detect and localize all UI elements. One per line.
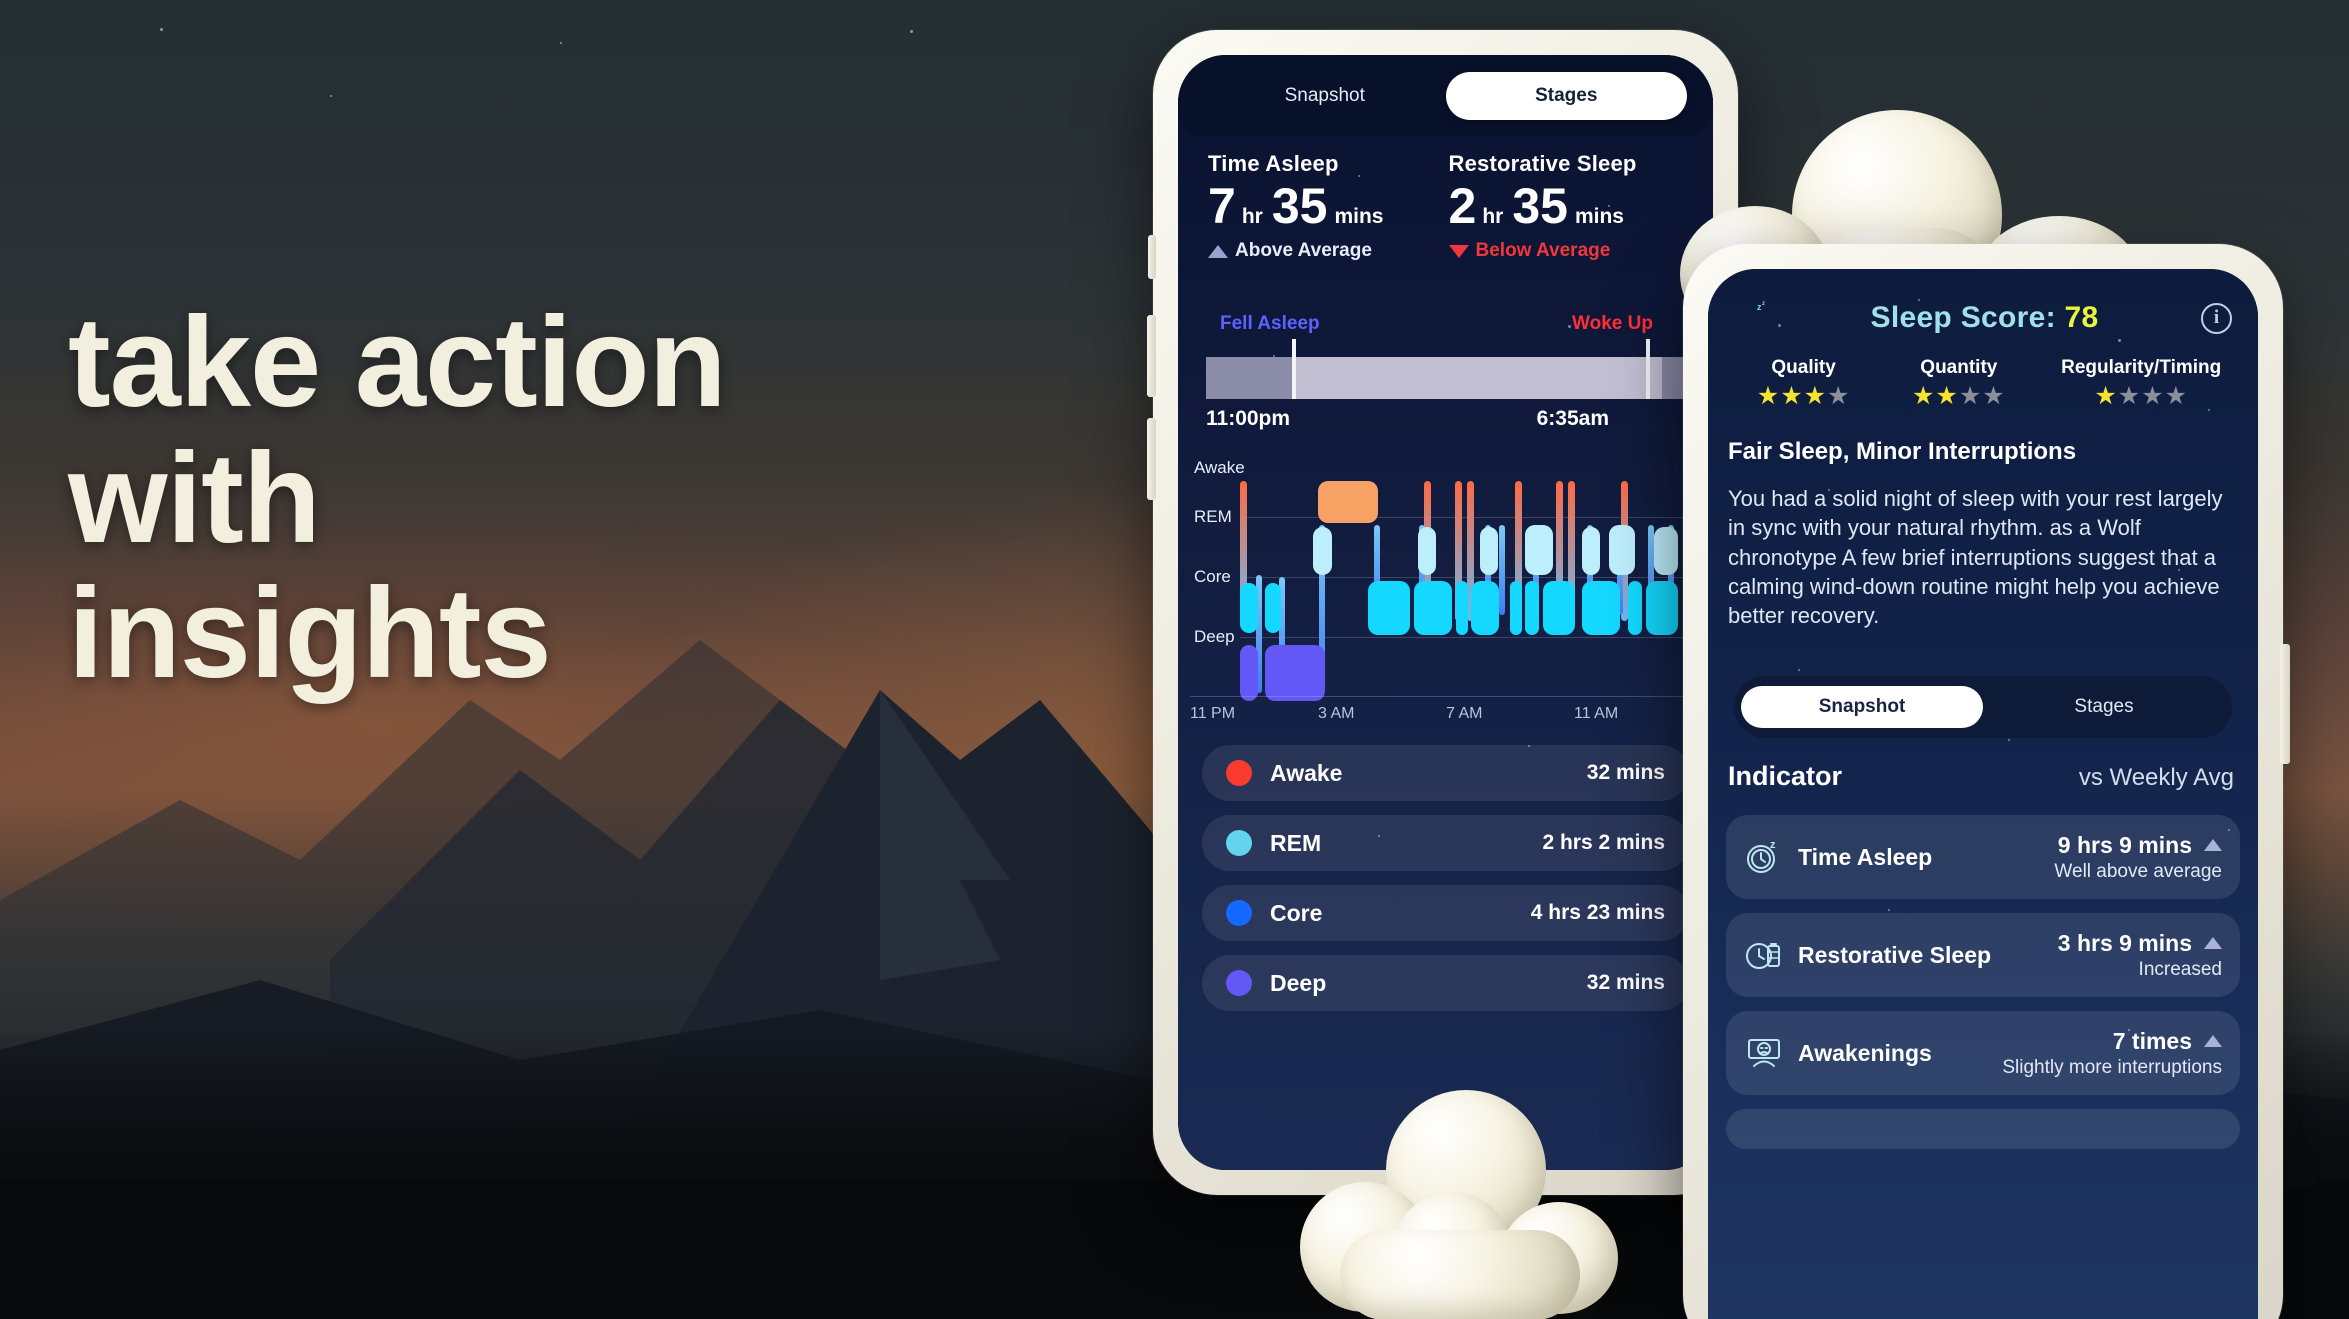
stage-segment-core xyxy=(1525,581,1539,635)
stage-segment-rem xyxy=(1418,527,1436,575)
awake-face-icon xyxy=(1744,1033,1784,1073)
phone2-tab-bar[interactable]: Snapshot Stages xyxy=(1734,676,2232,738)
arrow-up-icon xyxy=(2204,1035,2222,1047)
tab-stages[interactable]: Stages xyxy=(1983,686,2225,728)
timeline-asleep-range xyxy=(1292,357,1662,399)
metric-label: Time Asleep xyxy=(1208,151,1449,177)
metric-value: 2 hr 35 mins xyxy=(1449,181,1690,231)
stage-segment-core xyxy=(1471,581,1499,635)
stage-segment-rem xyxy=(1609,525,1635,575)
moon-zzz-icon: z z xyxy=(1734,299,1768,337)
stage-segment-deep xyxy=(1240,645,1258,701)
tab-snapshot[interactable]: Snapshot xyxy=(1741,686,1983,728)
rating-stars: ★★★★ xyxy=(1726,384,1881,409)
rating-quantity: Quantity ★★★★ xyxy=(1881,357,2036,409)
timeline-bar xyxy=(1206,357,1713,399)
summary-body: You had a solid night of sleep with your… xyxy=(1728,484,2236,630)
metric-hours-unit: hr xyxy=(1482,205,1503,229)
timeline-times: 11:00pm 6:35am xyxy=(1206,407,1689,431)
indicator-value: 7 times xyxy=(2113,1028,2192,1055)
cloud-puff xyxy=(1340,1230,1580,1319)
rating-regularity-timing: Regularity/Timing ★★★★ xyxy=(2036,357,2246,409)
metric-time-asleep: Time Asleep 7 hr 35 mins Above Average xyxy=(1208,151,1449,262)
indicator-subtext: Increased xyxy=(2058,959,2222,981)
stage-segment-core xyxy=(1646,581,1678,635)
xtick-11pm: 11 PM xyxy=(1190,705,1235,723)
ylabel-rem: REM xyxy=(1194,507,1232,527)
metric-comparison: Below Average xyxy=(1449,240,1690,262)
headline-line-1: take action xyxy=(68,291,726,434)
cloud-cluster-bottom xyxy=(1300,1090,1700,1319)
summary-title: Fair Sleep, Minor Interruptions xyxy=(1728,438,2238,466)
stage-legend: Awake 32 mins REM 2 hrs 2 mins Core 4 hr… xyxy=(1202,745,1689,1025)
tab-snapshot[interactable]: Snapshot xyxy=(1204,72,1446,120)
legend-row-rem[interactable]: REM 2 hrs 2 mins xyxy=(1202,815,1689,871)
rating-quality: Quality ★★★★ xyxy=(1726,357,1881,409)
hero-headline: take action with insights xyxy=(68,295,828,702)
stage-segment-awake xyxy=(1318,481,1378,523)
rating-row: Quality ★★★★ Quantity ★★★★ Regularity/Ti… xyxy=(1726,357,2246,409)
rating-label: Regularity/Timing xyxy=(2036,357,2246,379)
stage-segment-rem xyxy=(1582,527,1600,575)
indicator-subtext: Slightly more interruptions xyxy=(2002,1057,2222,1079)
indicator-name: Awakenings xyxy=(1798,1040,2002,1067)
column-header-comparison: vs Weekly Avg xyxy=(2079,764,2234,792)
tab-stages[interactable]: Stages xyxy=(1446,72,1688,120)
comparison-text: Above Average xyxy=(1235,240,1372,262)
phone1-tab-bar[interactable]: Snapshot Stages xyxy=(1178,55,1713,137)
stage-segment-core xyxy=(1240,583,1258,633)
indicator-name: Time Asleep xyxy=(1798,844,2054,871)
phone2-screen: z z Sleep Score: 78 i Quality ★★★★ Quant… xyxy=(1708,269,2258,1319)
stage-segment-core xyxy=(1368,581,1410,635)
indicator-rows: z Time Asleep 9 hrs 9 mins Well above av… xyxy=(1726,815,2240,1163)
phone-mockup-stages: Snapshot Stages Time Asleep 7 hr 35 mins… xyxy=(1153,30,1738,1195)
stage-segment-core xyxy=(1543,581,1575,635)
rating-label: Quantity xyxy=(1881,357,2036,379)
rating-stars: ★★★★ xyxy=(2036,384,2246,409)
sleep-score-value: 78 xyxy=(2065,301,2099,334)
clock-zzz-icon: z xyxy=(1744,837,1784,877)
stage-segment-core xyxy=(1628,581,1642,635)
legend-label: REM xyxy=(1270,830,1542,857)
indicator-values: 7 times Slightly more interruptions xyxy=(2002,1028,2222,1079)
fell-asleep-label: Fell Asleep xyxy=(1220,313,1320,335)
column-header-indicator: Indicator xyxy=(1728,761,1842,792)
indicator-table-header: Indicator vs Weekly Avg xyxy=(1728,761,2234,792)
phone-mockup-snapshot: z z Sleep Score: 78 i Quality ★★★★ Quant… xyxy=(1683,244,2283,1319)
stage-segment-core xyxy=(1582,581,1620,635)
battery-clock-icon xyxy=(1744,935,1784,975)
sleep-score: Sleep Score: 78 xyxy=(1768,301,2201,335)
indicator-name: Restorative Sleep xyxy=(1798,942,2058,969)
xtick-7am: 7 AM xyxy=(1446,705,1482,723)
indicator-row-awakenings[interactable]: Awakenings 7 times Slightly more interru… xyxy=(1726,1011,2240,1095)
phone2-header: z z Sleep Score: 78 i xyxy=(1734,299,2232,337)
sleep-score-label: Sleep Score: xyxy=(1871,301,2056,334)
phone2-power-button[interactable] xyxy=(2280,644,2290,764)
color-dot-deep xyxy=(1226,970,1252,996)
fell-asleep-marker xyxy=(1292,339,1296,399)
stage-segment-rem xyxy=(1480,527,1498,575)
svg-text:z: z xyxy=(1770,839,1776,851)
metric-mins-unit: mins xyxy=(1334,205,1383,229)
stage-segment-core xyxy=(1414,581,1452,635)
headline-line-2: with insights xyxy=(68,431,828,702)
rating-stars: ★★★★ xyxy=(1881,384,2036,409)
indicator-values: 3 hrs 9 mins Increased xyxy=(2058,930,2222,981)
metric-comparison: Above Average xyxy=(1208,240,1449,262)
legend-row-awake[interactable]: Awake 32 mins xyxy=(1202,745,1689,801)
stage-segment-core xyxy=(1456,581,1468,635)
metric-mins: 35 xyxy=(1512,181,1568,231)
indicator-row-partial[interactable] xyxy=(1726,1109,2240,1149)
ylabel-awake: Awake xyxy=(1194,458,1245,478)
stage-segment-core xyxy=(1510,581,1522,635)
metric-mins-unit: mins xyxy=(1575,205,1624,229)
stage-segment-rem xyxy=(1654,527,1678,575)
legend-label: Core xyxy=(1270,900,1531,927)
metric-mins: 35 xyxy=(1272,181,1328,231)
legend-value: 32 mins xyxy=(1587,971,1665,995)
transition-stem xyxy=(1499,525,1505,615)
phone1-screen: Snapshot Stages Time Asleep 7 hr 35 mins… xyxy=(1178,55,1713,1170)
hypnogram-chart: Awake REM Core Deep xyxy=(1178,455,1713,723)
arrow-up-icon xyxy=(2204,937,2222,949)
phone1-mute-switch[interactable] xyxy=(1148,235,1156,279)
legend-label: Awake xyxy=(1270,760,1587,787)
indicator-row-restorative-sleep[interactable]: Restorative Sleep 3 hrs 9 mins Increased xyxy=(1726,913,2240,997)
comparison-text: Below Average xyxy=(1476,240,1611,262)
metric-restorative-sleep: Restorative Sleep 2 hr 35 mins Below Ave… xyxy=(1449,151,1690,262)
arrow-up-icon xyxy=(1208,245,1228,258)
sleep-timeline: Fell Asleep Woke Up xyxy=(1206,313,1713,399)
gridline-deep xyxy=(1240,637,1697,638)
metric-hours: 7 xyxy=(1208,181,1236,231)
legend-value: 32 mins xyxy=(1587,761,1665,785)
color-dot-core xyxy=(1226,900,1252,926)
sleep-start-time: 11:00pm xyxy=(1206,407,1290,431)
indicator-subtext: Well above average xyxy=(2054,861,2222,883)
svg-text:z: z xyxy=(1762,301,1765,307)
legend-value: 4 hrs 23 mins xyxy=(1531,901,1665,925)
stage-segment-core xyxy=(1265,583,1281,633)
stage-segment-deep xyxy=(1265,645,1325,701)
phone1-metrics: Time Asleep 7 hr 35 mins Above Average R… xyxy=(1208,151,1689,262)
woke-up-marker xyxy=(1646,339,1650,399)
xtick-11am: 11 AM xyxy=(1574,705,1618,723)
phone1-volume-down[interactable] xyxy=(1147,418,1156,500)
metric-hours-unit: hr xyxy=(1242,205,1263,229)
ylabel-core: Core xyxy=(1194,567,1231,587)
phone1-volume-up[interactable] xyxy=(1147,315,1156,397)
metric-hours: 2 xyxy=(1449,181,1477,231)
info-icon[interactable]: i xyxy=(2201,303,2232,334)
indicator-row-time-asleep[interactable]: z Time Asleep 9 hrs 9 mins Well above av… xyxy=(1726,815,2240,899)
legend-row-deep[interactable]: Deep 32 mins xyxy=(1202,955,1689,1011)
stage-segment-rem xyxy=(1525,525,1553,575)
rating-label: Quality xyxy=(1726,357,1881,379)
stage-segment-rem xyxy=(1313,527,1332,575)
color-dot-rem xyxy=(1226,830,1252,856)
legend-row-core[interactable]: Core 4 hrs 23 mins xyxy=(1202,885,1689,941)
arrow-up-icon xyxy=(2204,839,2222,851)
sleep-end-time: 6:35am xyxy=(1537,407,1609,431)
indicator-values: 9 hrs 9 mins Well above average xyxy=(2054,832,2222,883)
ylabel-deep: Deep xyxy=(1194,627,1235,647)
woke-up-label: Woke Up xyxy=(1572,313,1653,335)
indicator-value: 3 hrs 9 mins xyxy=(2058,930,2192,957)
indicator-value: 9 hrs 9 mins xyxy=(2058,832,2192,859)
metric-value: 7 hr 35 mins xyxy=(1208,181,1449,231)
legend-label: Deep xyxy=(1270,970,1587,997)
metric-label: Restorative Sleep xyxy=(1449,151,1690,177)
color-dot-awake xyxy=(1226,760,1252,786)
legend-value: 2 hrs 2 mins xyxy=(1542,831,1665,855)
arrow-down-icon xyxy=(1449,245,1469,258)
xtick-3am: 3 AM xyxy=(1318,705,1354,723)
x-axis-line xyxy=(1190,696,1697,697)
